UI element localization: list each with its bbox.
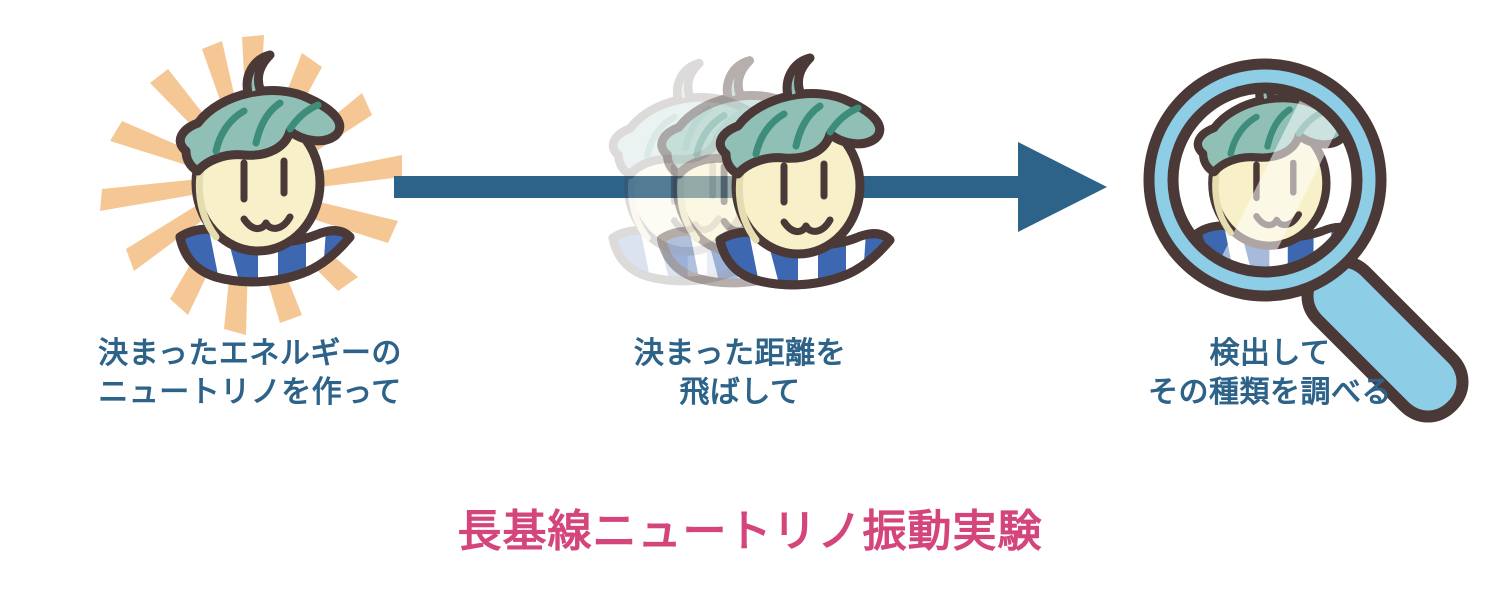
step-propagation-icon — [613, 58, 890, 285]
caption-propagation-line2: 飛ばして — [540, 373, 940, 412]
caption-propagation: 決まった距離を 飛ばして — [540, 334, 940, 412]
caption-production: 決まったエネルギーの ニュートリノを作って — [0, 334, 500, 412]
caption-production-line2: ニュートリノを作って — [0, 373, 500, 412]
figure-title: 長基線ニュートリノ振動実験 — [0, 495, 1500, 559]
caption-propagation-line1: 決まった距離を — [540, 334, 940, 373]
caption-detection: 検出して その種類を調べる — [1090, 334, 1450, 412]
caption-detection-line1: 検出して — [1090, 334, 1450, 373]
caption-production-line1: 決まったエネルギーの — [0, 334, 500, 373]
caption-detection-line2: その種類を調べる — [1090, 373, 1450, 412]
diagram-canvas: 決まったエネルギーの ニュートリノを作って 決まった距離を 飛ばして 検出して … — [0, 0, 1500, 600]
step-production-icon — [100, 35, 402, 335]
